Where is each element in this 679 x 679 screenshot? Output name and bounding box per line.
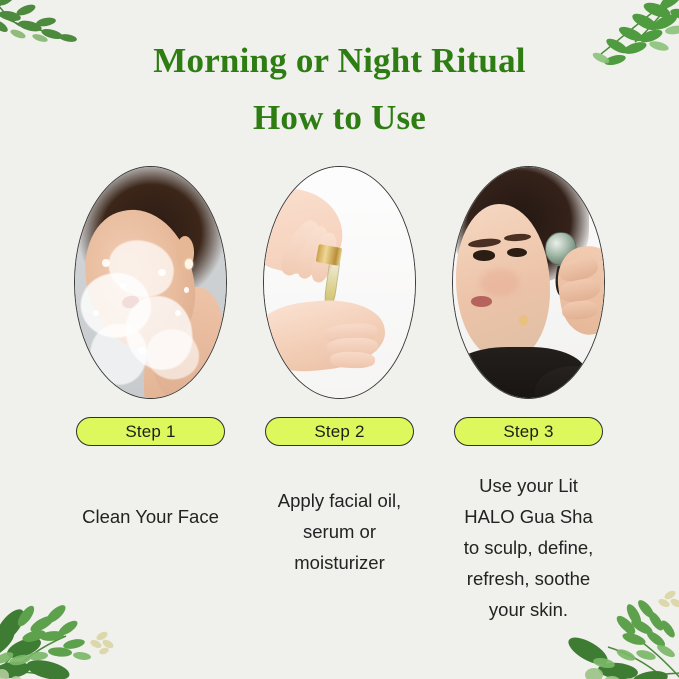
step-badge-label-1: Step 1 [125,423,175,440]
step-caption-1: Clean Your Face [65,501,237,532]
step-badge-label-2: Step 2 [314,423,364,440]
step-column-1: Step 1 Clean Your Face [75,166,226,625]
woman-using-gua-sha-tool-photo [452,166,605,399]
step-column-2: Step 2 Apply facial oil, serum or moistu… [264,166,415,625]
hand-with-dropper-over-palm-photo [263,166,416,399]
step-badge-1[interactable]: Step 1 [76,417,225,446]
title-line-1: Morning or Night Ritual [0,38,679,84]
step-badge-2[interactable]: Step 2 [265,417,414,446]
step-caption-2: Apply facial oil, serum or moisturizer [254,485,426,578]
step-badge-3[interactable]: Step 3 [454,417,603,446]
step-badge-label-3: Step 3 [503,423,553,440]
step-column-3: Step 3 Use your Lit HALO Gua Sha to scul… [453,166,604,625]
title-line-2: How to Use [0,95,679,141]
how-to-use-poster: Morning or Night Ritual How to Use [0,0,679,679]
woman-splashing-water-on-face-photo [74,166,227,399]
step-caption-3: Use your Lit HALO Gua Sha to sculp, defi… [443,470,615,625]
steps-row: Step 1 Clean Your Face [0,166,679,625]
page-title: Morning or Night Ritual How to Use [0,38,679,141]
